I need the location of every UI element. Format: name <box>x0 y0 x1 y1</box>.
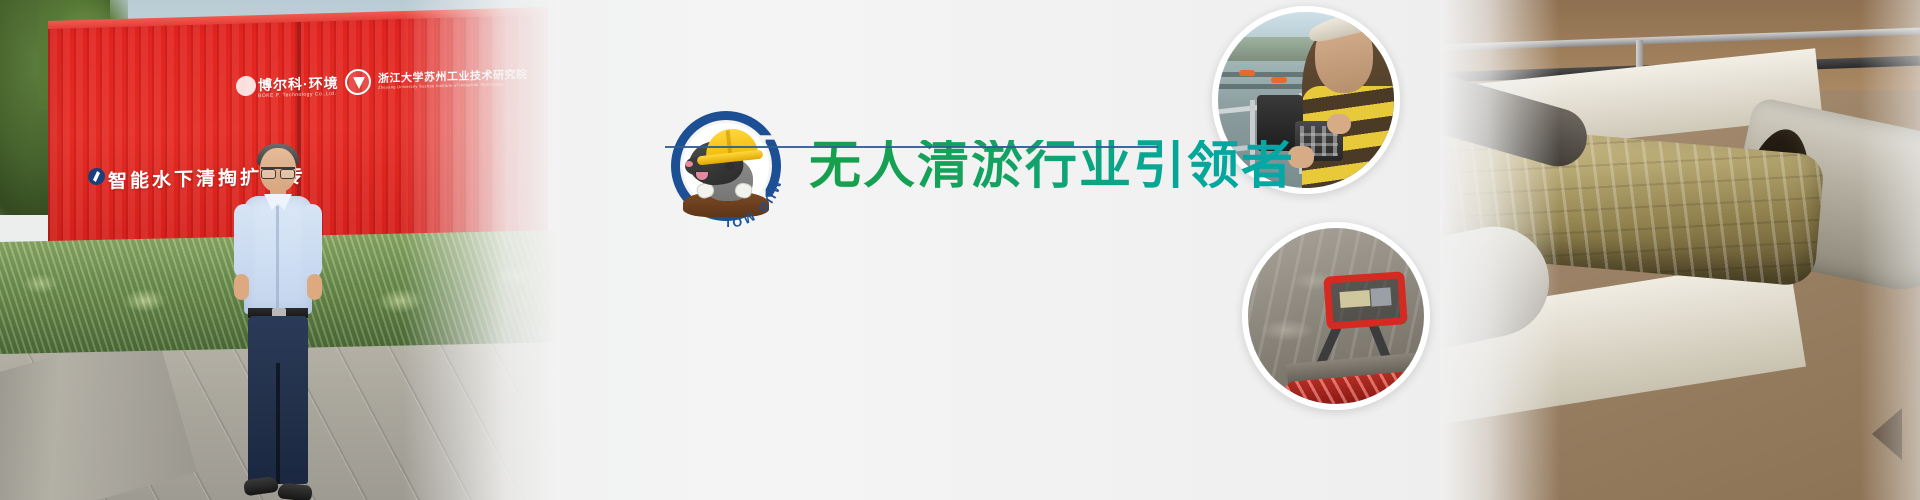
center-content: MUD MOLE 无人清淤行业引领者 <box>640 0 1200 500</box>
orange-float-1 <box>1239 70 1255 76</box>
right-edge-fade-overlay <box>1860 0 1920 500</box>
left-container-photo: 博尔科·环境 BOKE P. Technology Co.,Ltd. 浙江大学苏… <box>0 0 560 500</box>
right-photo-group <box>1190 0 1920 500</box>
dredging-robot-photo-inner <box>1248 228 1424 404</box>
dredging-robot-circle-photo <box>1242 222 1430 410</box>
pipe-photo-fade-overlay <box>1440 0 1560 500</box>
operator-right-hand <box>1327 114 1351 134</box>
sludge-discharge-pipe-photo <box>1440 0 1920 500</box>
headline-divider <box>665 146 1158 148</box>
logo-arc-text-svg: MUD MOLE <box>665 105 787 227</box>
hero-banner: 博尔科·环境 BOKE P. Technology Co.,Ltd. 浙江大学苏… <box>0 0 1920 500</box>
robot-motor-housing <box>1371 287 1392 306</box>
left-photo-fade-overlay <box>0 0 560 500</box>
logo-arc-label: MUD MOLE <box>665 105 784 227</box>
brand-row: MUD MOLE 无人清淤行业引领者 <box>665 105 1295 227</box>
mud-mole-logo: MUD MOLE <box>665 105 787 227</box>
orange-float-2 <box>1271 77 1287 83</box>
robot-equipment-box <box>1339 290 1370 308</box>
